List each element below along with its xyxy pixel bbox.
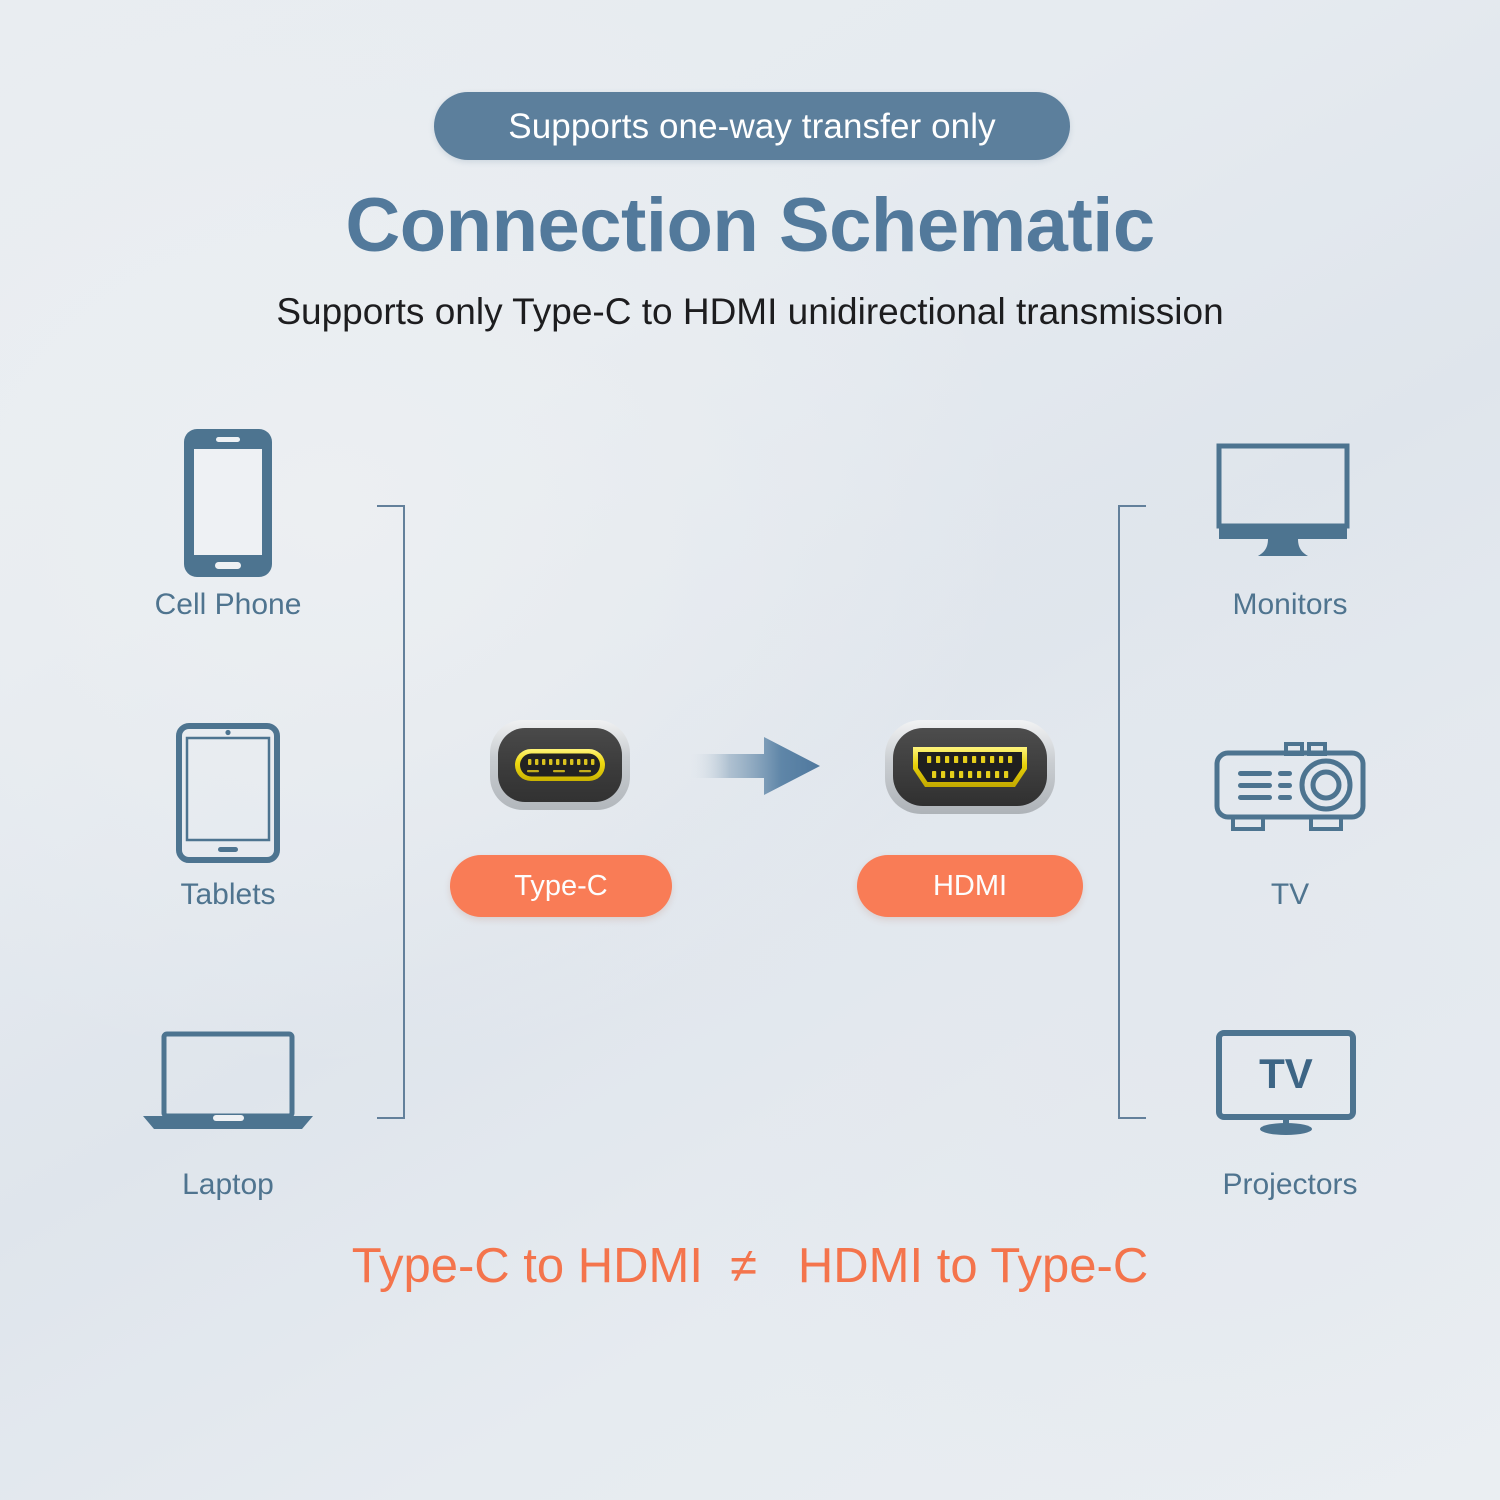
usb-c-port <box>489 719 631 811</box>
television-screen-text: TV <box>1259 1050 1313 1097</box>
source-device-label: Laptop <box>78 1168 378 1201</box>
right-arrow-icon <box>690 735 820 797</box>
destination-device-tv: TV <box>1140 710 1440 1000</box>
laptop-icon <box>78 1000 378 1165</box>
projector-icon <box>1140 710 1440 875</box>
destination-device-label: Monitors <box>1140 588 1440 621</box>
page-subtitle: Supports only Type-C to HDMI unidirectio… <box>0 292 1500 333</box>
smartphone-icon <box>78 420 378 585</box>
television-icon: TV <box>1140 1000 1440 1165</box>
directionality-note: Type-C to HDMI ≠ HDMI to Type-C <box>0 1240 1500 1294</box>
one-way-transfer-badge: Supports one-way transfer only <box>434 92 1070 160</box>
infographic-canvas: Supports one-way transfer only Connectio… <box>0 0 1500 1500</box>
source-bracket <box>377 505 405 1119</box>
source-device-cell-phone: Cell Phone <box>78 420 378 710</box>
source-device-column: Cell Phone Tablets <box>78 420 378 1290</box>
source-device-label: Tablets <box>78 878 378 911</box>
page-title: Connection Schematic <box>0 186 1500 267</box>
destination-device-column: Monitors <box>1140 420 1440 1290</box>
badge-label: Supports one-way transfer only <box>508 109 995 144</box>
destination-device-monitors: Monitors <box>1140 420 1440 710</box>
monitor-icon <box>1140 420 1440 585</box>
destination-device-label: TV <box>1140 878 1440 911</box>
hdmi-label-text: HDMI <box>933 872 1007 901</box>
hdmi-label-pill: HDMI <box>857 855 1083 917</box>
source-device-tablets: Tablets <box>78 710 378 1000</box>
type-c-label-text: Type-C <box>514 872 607 901</box>
hdmi-port <box>884 719 1056 815</box>
source-device-label: Cell Phone <box>78 588 378 621</box>
tablet-icon <box>78 710 378 875</box>
type-c-label-pill: Type-C <box>450 855 672 917</box>
destination-device-label: Projectors <box>1140 1168 1440 1201</box>
